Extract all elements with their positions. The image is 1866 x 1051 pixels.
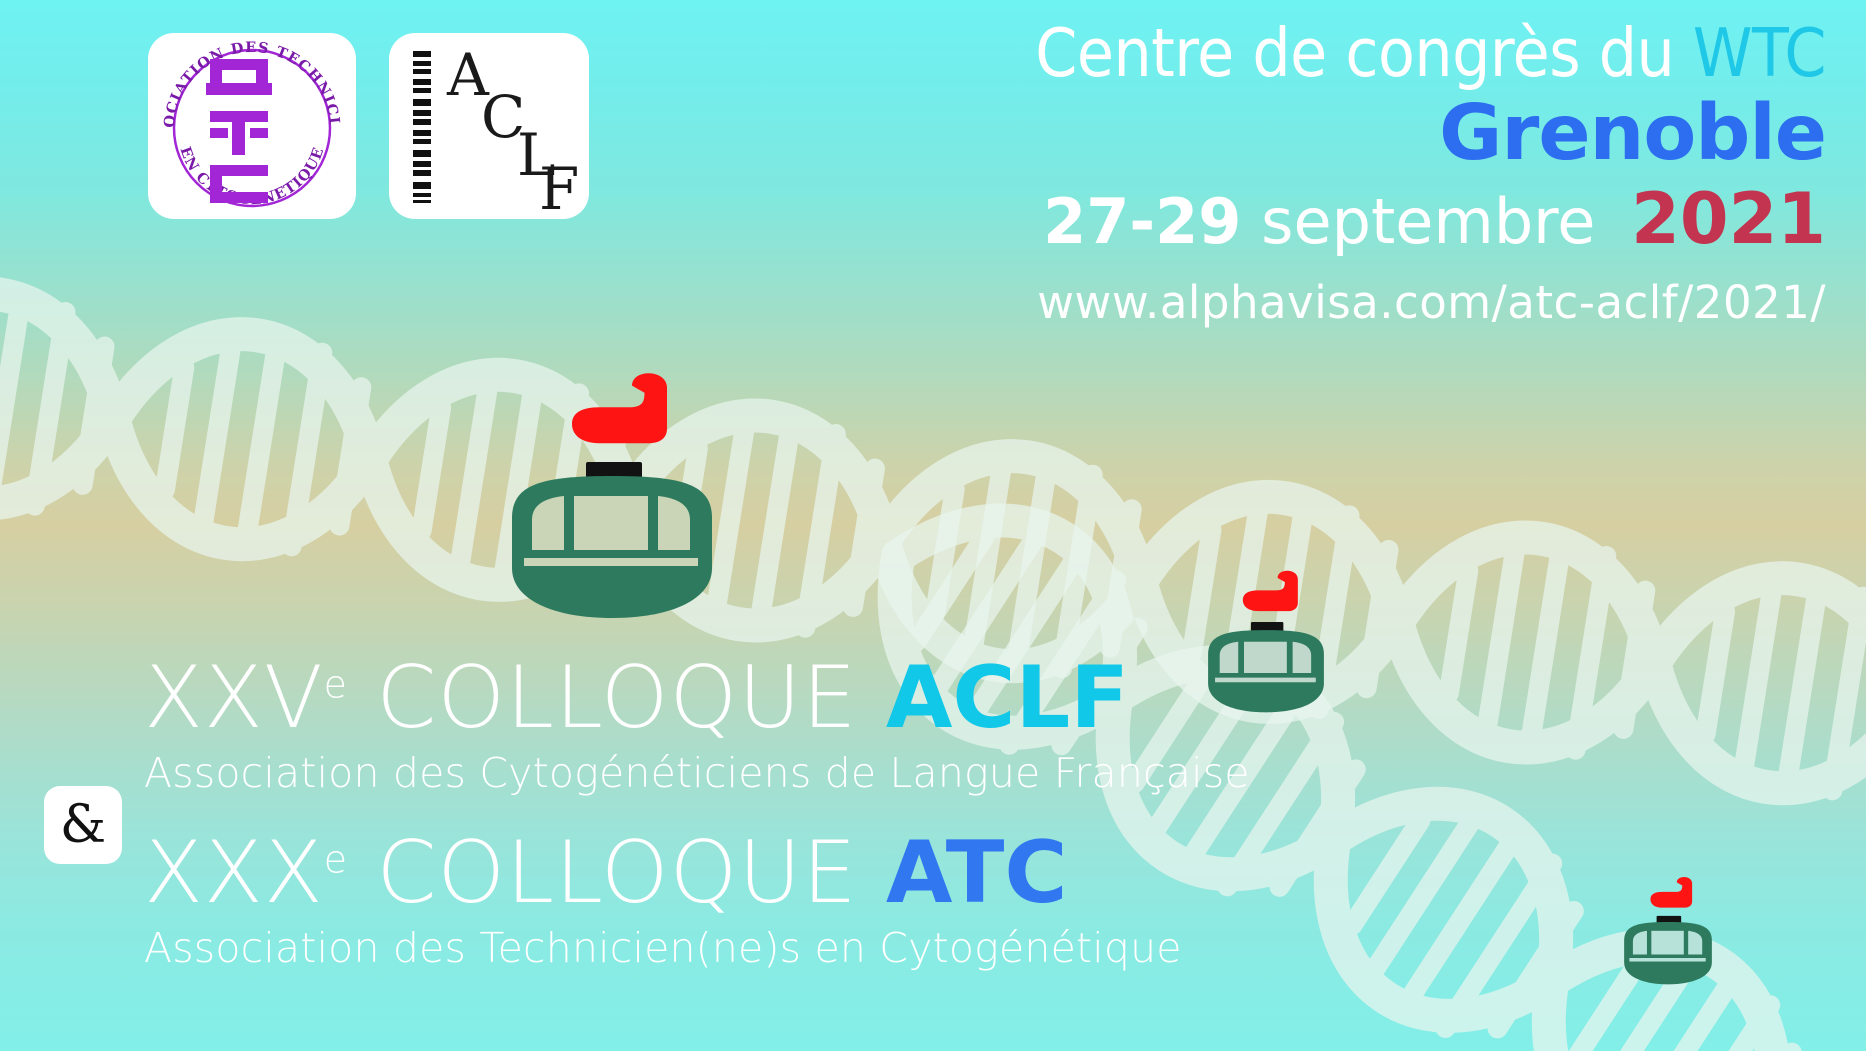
atc-ordinal: XXX (144, 823, 324, 923)
chromosome-ideogram-icon (413, 51, 431, 203)
aclf-ordinal: XXV (144, 648, 324, 748)
atc-colloque-line: XXXe COLLOQUE ATC (144, 830, 1250, 916)
aclf-letters: A C L F (446, 41, 579, 219)
aclf-colloque-word: COLLOQUE (376, 648, 857, 748)
website-url[interactable]: www.alphavisa.com/atc-aclf/2021/ (1035, 280, 1826, 325)
event-dates: 27-29 (1043, 185, 1241, 258)
aclf-acronym: ACLF (886, 648, 1129, 748)
cable-car-small (1618, 872, 1718, 987)
header-text-block: Centre de congrès du WTC Grenoble 27-29 … (1035, 20, 1826, 325)
ampersand-badge: & (44, 786, 122, 864)
atc-subtitle: Association des Technicien(ne)s en Cytog… (144, 928, 1250, 969)
aclf-logo[interactable]: A C L F (389, 33, 589, 219)
conference-banner: ASSOCIATION DES TECHNICIENS EN CYTOGENET… (0, 0, 1866, 1051)
atc-colloque-word: COLLOQUE (376, 823, 857, 923)
aclf-ordinal-suffix: e (324, 662, 348, 706)
cable-car-large (498, 368, 726, 618)
colloque-titles: XXVe COLLOQUE ACLF Association des Cytog… (144, 655, 1250, 969)
atc-logo[interactable]: ASSOCIATION DES TECHNICIENS EN CYTOGENET… (148, 33, 356, 219)
event-month: septembre (1261, 185, 1595, 258)
aclf-colloque-line: XXVe COLLOQUE ACLF (144, 655, 1250, 741)
venue-acronym: WTC (1693, 14, 1826, 92)
aclf-subtitle: Association des Cytogénéticiens de Langu… (144, 753, 1250, 794)
atc-letter-glyphs (206, 59, 272, 203)
aclf-event-block: XXVe COLLOQUE ACLF Association des Cytog… (144, 655, 1250, 794)
atc-ordinal-suffix: e (324, 837, 348, 881)
date-line: 27-29 septembre 2021 (1035, 184, 1826, 254)
city-name: Grenoble (1035, 95, 1826, 172)
aclf-logo-mark: A C L F (389, 33, 589, 219)
atc-logo-mark: ASSOCIATION DES TECHNICIENS EN CYTOGENET… (148, 33, 356, 219)
svg-text:F: F (539, 155, 579, 219)
venue-prefix: Centre de congrès du (1035, 14, 1674, 92)
atc-event-block: XXXe COLLOQUE ATC Association des Techni… (144, 830, 1250, 969)
atc-acronym: ATC (886, 823, 1068, 923)
ampersand-glyph: & (60, 799, 106, 851)
event-year: 2021 (1631, 178, 1826, 260)
venue-line: Centre de congrès du WTC (1035, 20, 1826, 87)
